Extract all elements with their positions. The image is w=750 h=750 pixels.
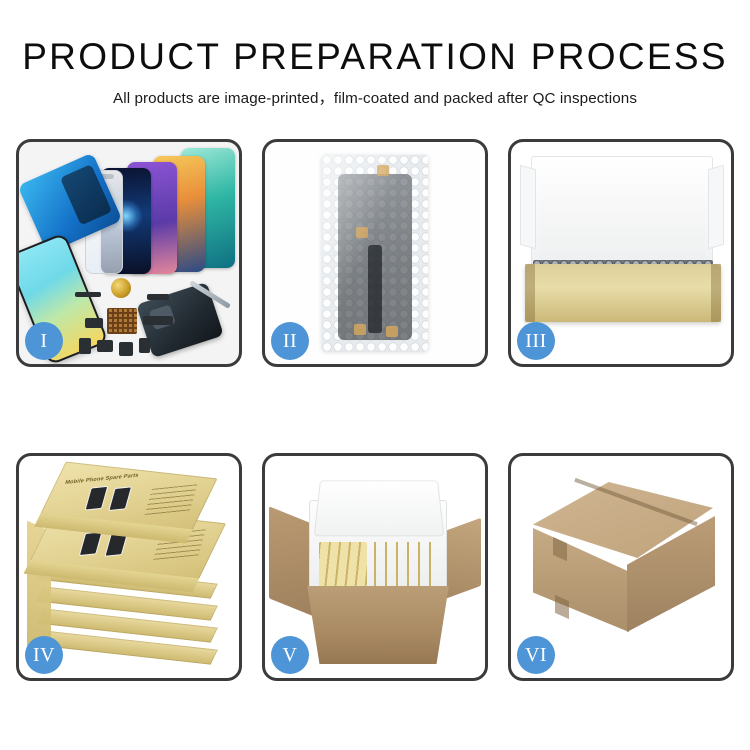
step-badge-4: IV (25, 636, 63, 674)
process-step-3: III (508, 139, 734, 367)
page-subtitle: All products are image-printed，film-coat… (0, 86, 750, 108)
connector-part (147, 294, 169, 300)
flex-cable-part (75, 292, 101, 297)
yellow-box-tray (525, 264, 721, 322)
step-badge-6: VI (517, 636, 555, 674)
speaker-coil-part (111, 278, 131, 298)
step-badge-1: I (25, 322, 63, 360)
step-badge-3: III (517, 322, 555, 360)
vibrator-part (119, 342, 133, 356)
packed-yellow-boxes-left (319, 542, 367, 586)
carton-body (301, 586, 455, 664)
step-badge-2: II (271, 322, 309, 360)
bracket-part (139, 338, 150, 353)
foam-sheet (539, 184, 705, 266)
process-step-grid: I II III (16, 139, 734, 681)
stacked-boxes: Mobile Phone Spare Parts Mobile Phone Sp… (27, 470, 233, 666)
process-step-6: VI (508, 453, 734, 681)
process-step-1: I (16, 139, 242, 367)
page-header: PRODUCT PREPARATION PROCESS All products… (0, 0, 750, 108)
step-badge-5: V (271, 636, 309, 674)
bubble-wrap-sleeve (322, 155, 428, 351)
ribbon-cable-part (143, 316, 173, 325)
process-step-2: II (262, 139, 488, 367)
box-back-top: Mobile Phone Spare Parts (40, 462, 217, 531)
sensor-part (97, 340, 113, 352)
process-step-4: Mobile Phone Spare Parts Mobile Phone Sp… (16, 453, 242, 681)
foam-lid-open (314, 480, 445, 536)
small-module-part (85, 318, 103, 328)
camera-part (79, 338, 91, 354)
process-step-5: V (262, 453, 488, 681)
chip-array-part (107, 308, 137, 334)
box-label-spec-lines (144, 484, 197, 517)
page-title: PRODUCT PREPARATION PROCESS (0, 36, 750, 77)
plastic-gloss-highlight (322, 155, 428, 351)
